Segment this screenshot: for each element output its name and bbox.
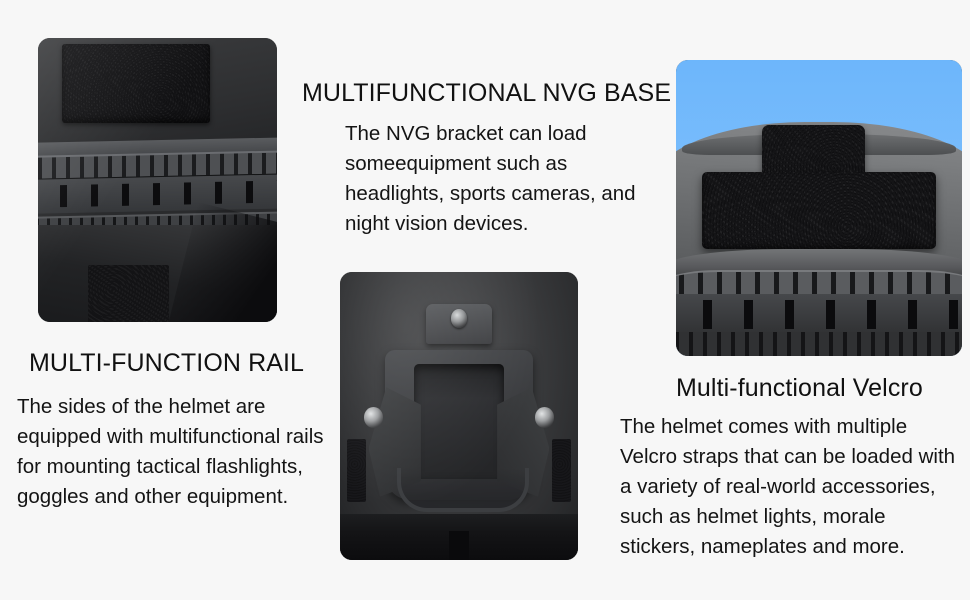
rail-description: The sides of the helmet are equipped wit… <box>17 392 339 512</box>
rail-photo <box>38 38 277 322</box>
rail-slots <box>676 294 962 335</box>
nvg-description: The NVG bracket can load someequipment s… <box>345 119 645 239</box>
nvg-heading: MULTIFUNCTIONAL NVG BASE <box>302 79 671 108</box>
infographic-stage: MULTIFUNCTIONAL NVG BASE The NVG bracket… <box>0 0 970 600</box>
velcro-heading: Multi-functional Velcro <box>676 374 923 403</box>
velcro-description: The helmet comes with multiple Velcro st… <box>620 412 966 562</box>
velcro-patch-wide <box>702 172 937 249</box>
photo-gloss-overlay <box>340 272 578 560</box>
nvg-photo <box>340 272 578 560</box>
photo-gloss-overlay <box>38 38 277 322</box>
rail-heading: MULTI-FUNCTION RAIL <box>29 349 304 378</box>
rail-foot <box>676 332 962 356</box>
velcro-photo <box>676 60 962 356</box>
